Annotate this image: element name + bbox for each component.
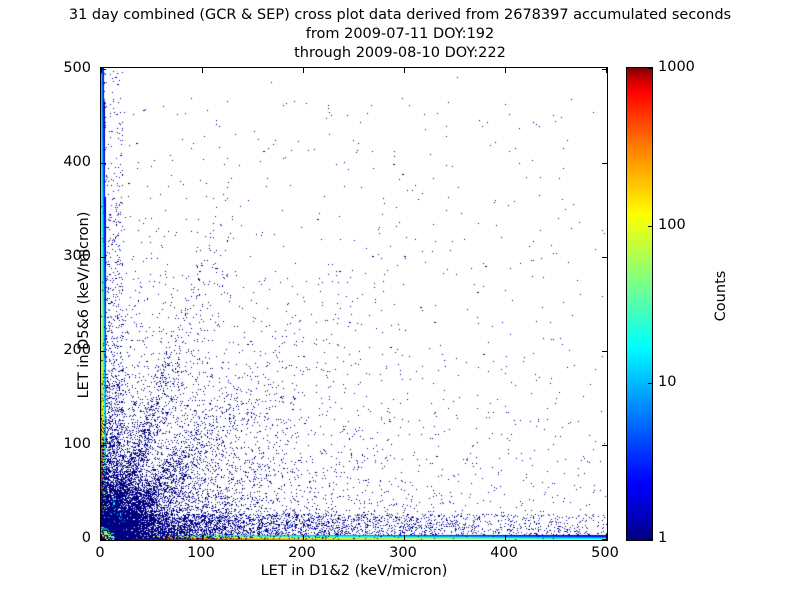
xticklabel-400: 400 xyxy=(474,545,534,561)
xticklabel-300: 300 xyxy=(373,545,433,561)
cbtick-10 xyxy=(648,383,653,384)
xtick-top-300 xyxy=(404,68,405,73)
xtick-top-400 xyxy=(505,68,506,73)
xtick-top-100 xyxy=(202,68,203,73)
xticklabel-500: 500 xyxy=(575,545,635,561)
ytick-left-500 xyxy=(101,69,106,70)
colorbar-label: Counts xyxy=(713,59,729,533)
cbtick-1000 xyxy=(648,68,653,69)
cbtick-1 xyxy=(648,539,653,540)
ytick-left-300 xyxy=(101,257,106,258)
let-cross-plot-heatmap xyxy=(101,68,607,540)
x-axis-label: LET in D1&2 (keV/micron) xyxy=(100,563,608,579)
cbtick-100 xyxy=(648,226,653,227)
ytick-right-400 xyxy=(602,163,607,164)
xtick-top-200 xyxy=(303,68,304,73)
ytick-left-200 xyxy=(101,351,106,352)
xtick-bottom-300 xyxy=(404,535,405,540)
ytick-left-0 xyxy=(101,539,106,540)
ytick-left-400 xyxy=(101,163,106,164)
xticklabel-200: 200 xyxy=(272,545,332,561)
colorbar[interactable] xyxy=(626,67,653,541)
ytick-right-0 xyxy=(602,539,607,540)
cbticklabel-1: 1 xyxy=(658,530,667,546)
ytick-right-300 xyxy=(602,257,607,258)
ytick-left-100 xyxy=(101,445,106,446)
ytick-right-500 xyxy=(602,69,607,70)
ytick-right-200 xyxy=(602,351,607,352)
xtick-bottom-400 xyxy=(505,535,506,540)
title-line-1: 31 day combined (GCR & SEP) cross plot d… xyxy=(0,6,800,25)
figure-canvas: 31 day combined (GCR & SEP) cross plot d… xyxy=(0,0,800,600)
xtick-bottom-100 xyxy=(202,535,203,540)
title-line-2: from 2009-07-11 DOY:192 xyxy=(0,25,800,44)
xticklabel-0: 0 xyxy=(70,545,130,561)
colorbar-gradient xyxy=(626,67,653,541)
cbticklabel-1000: 1000 xyxy=(658,59,695,75)
chart-title: 31 day combined (GCR & SEP) cross plot d… xyxy=(0,6,800,63)
y-axis-label: LET in D5&6 (keV/micron) xyxy=(76,68,92,542)
xtick-bottom-200 xyxy=(303,535,304,540)
plot-area[interactable] xyxy=(100,67,608,541)
cbticklabel-10: 10 xyxy=(658,374,676,390)
ytick-right-100 xyxy=(602,445,607,446)
xticklabel-100: 100 xyxy=(171,545,231,561)
cbticklabel-100: 100 xyxy=(658,217,686,233)
